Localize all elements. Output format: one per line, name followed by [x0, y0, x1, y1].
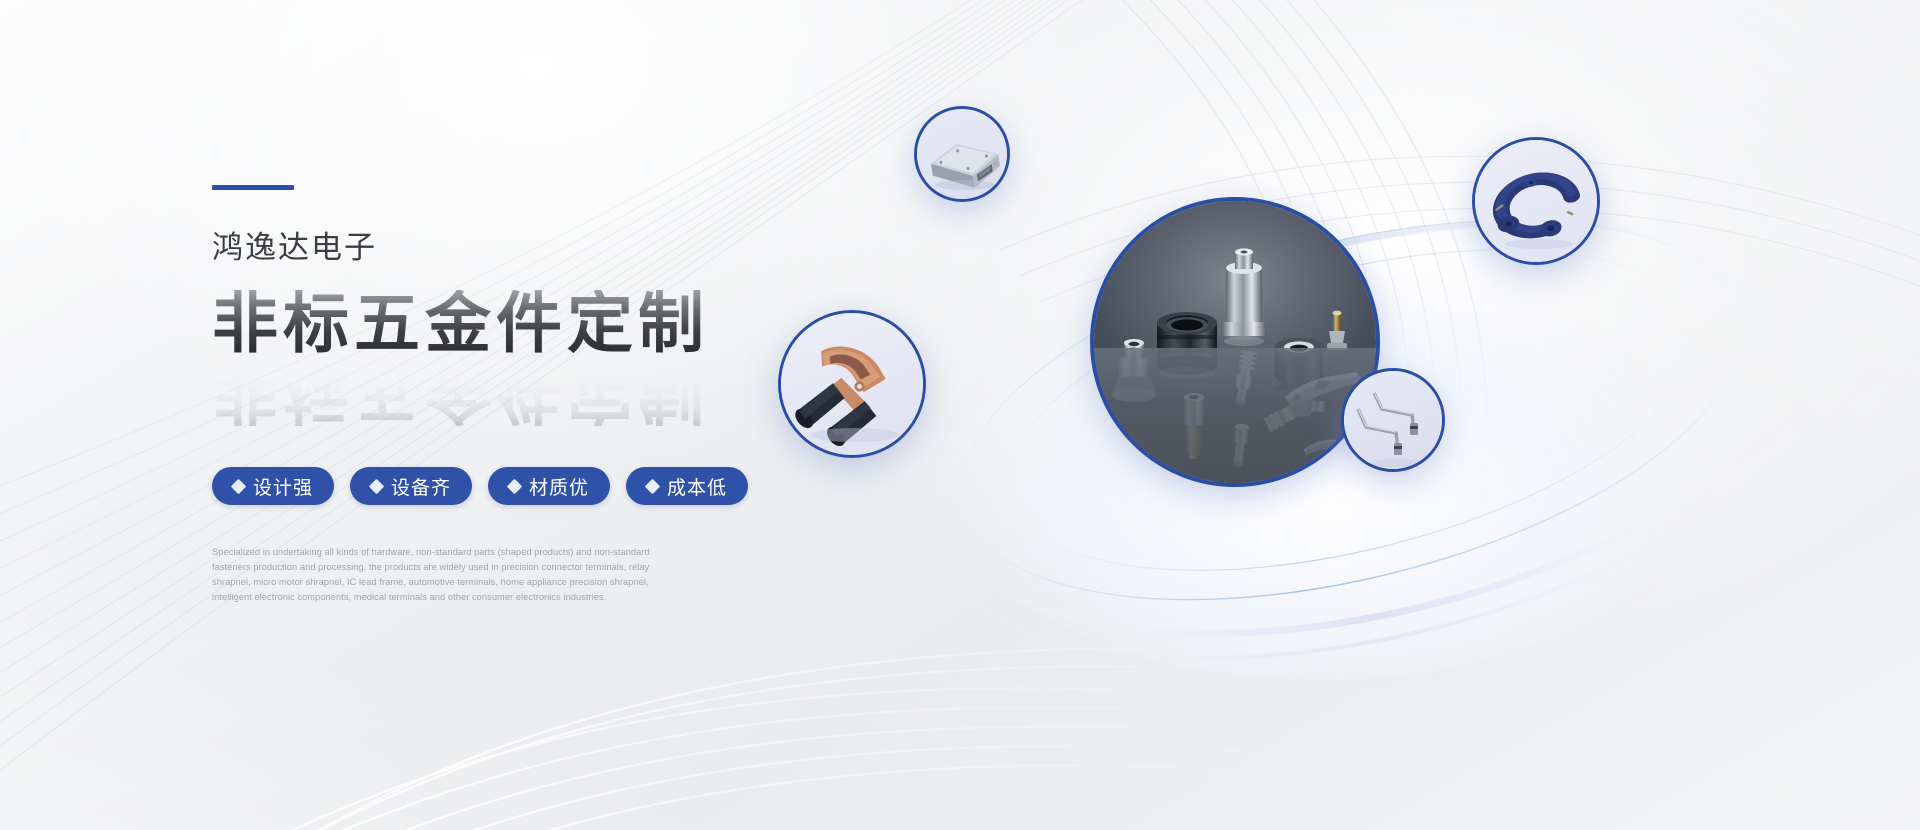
product-showcase [900, 110, 1920, 730]
description-paragraph: Specialized in undertaking all kinds of … [212, 545, 682, 605]
metal-enclosure-box-icon [917, 109, 1010, 202]
headline-reflection: 非标五金件定制 [212, 360, 709, 426]
feature-pill-cost[interactable]: 成本低 [626, 467, 748, 505]
feature-pill-design[interactable]: 设计强 [212, 467, 334, 505]
diamond-icon [231, 478, 247, 494]
brand-name: 鸿逸达电子 [212, 222, 377, 267]
page-title: 非标五金件定制 [212, 290, 832, 356]
battery-clamp-icon [781, 313, 926, 458]
product-circle-retaining-ring[interactable] [1472, 137, 1600, 265]
feature-pill-material[interactable]: 材质优 [488, 467, 610, 505]
feature-pill-label: 材质优 [529, 473, 589, 500]
hero-banner: 鸿逸达电子 非标五金件定制 非标五金件定制 设计强 设备齐 材质优 成本低 [0, 0, 1920, 830]
diamond-icon [507, 478, 523, 494]
product-circle-precision-machined-parts[interactable] [1090, 197, 1380, 487]
diamond-icon [645, 478, 661, 494]
feature-pill-list: 设计强 设备齐 材质优 成本低 [212, 467, 748, 505]
feature-pill-label: 设备齐 [391, 473, 451, 500]
bent-terminal-pins-icon [1344, 371, 1445, 472]
feature-pill-equipment[interactable]: 设备齐 [350, 467, 472, 505]
feature-pill-label: 成本低 [667, 473, 727, 500]
product-circle-bent-terminal-pins[interactable] [1341, 368, 1445, 472]
diamond-icon [369, 478, 385, 494]
retaining-ring-icon [1475, 140, 1600, 265]
product-circle-metal-enclosure-box[interactable] [914, 106, 1010, 202]
headline-group: 非标五金件定制 非标五金件定制 [212, 290, 832, 420]
product-circle-battery-clamp[interactable] [778, 310, 926, 458]
feature-pill-label: 设计强 [253, 473, 313, 500]
accent-bar [212, 185, 294, 190]
